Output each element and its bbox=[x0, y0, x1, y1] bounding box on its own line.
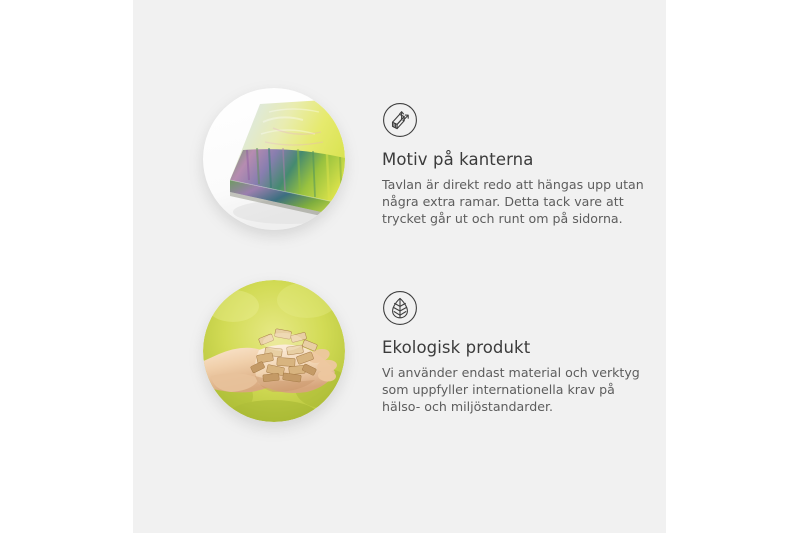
canvas-print-corner-photo-wrap bbox=[198, 80, 348, 230]
feature-title: Motiv på kanterna bbox=[382, 150, 650, 170]
hands-holding-wood-chips-photo-wrap bbox=[198, 272, 348, 422]
feature-text-column: Ekologisk produkt Vi använder endast mat… bbox=[382, 272, 650, 416]
feature-block-ekologisk-produkt: Ekologisk produkt Vi använder endast mat… bbox=[198, 272, 650, 422]
canvas-print-corner-photo bbox=[203, 88, 345, 230]
hands-holding-wood-chips-photo bbox=[203, 280, 345, 422]
leaf-eco-icon bbox=[382, 290, 418, 326]
feature-title: Ekologisk produkt bbox=[382, 338, 650, 358]
feature-body: Tavlan är direkt redo att hängas upp uta… bbox=[382, 176, 650, 228]
canvas-wrapped-edges-icon bbox=[382, 102, 418, 138]
feature-text-column: Motiv på kanterna Tavlan är direkt redo … bbox=[382, 80, 650, 228]
product-feature-panel: Motiv på kanterna Tavlan är direkt redo … bbox=[0, 0, 800, 533]
feature-block-motiv-pa-kanterna: Motiv på kanterna Tavlan är direkt redo … bbox=[198, 80, 650, 230]
feature-body: Vi använder endast material och verktyg … bbox=[382, 364, 650, 416]
